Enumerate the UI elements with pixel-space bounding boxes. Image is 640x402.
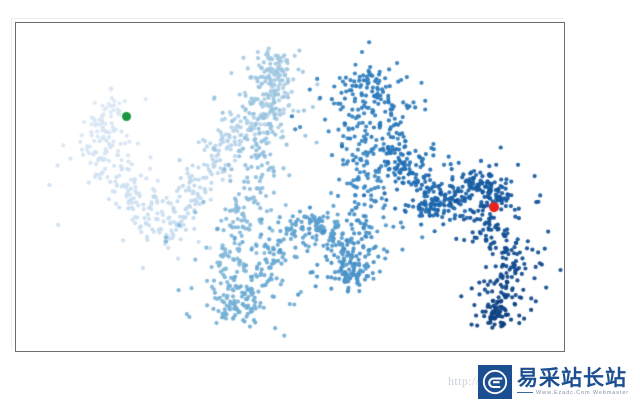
watermark-badge: 易采站长站 Www.Ezadc.Com Webmaster (478, 364, 629, 400)
brand-text-block: 易采站长站 Www.Ezadc.Com Webmaster (517, 364, 629, 400)
brand-title: 易采站长站 (517, 367, 629, 389)
brand-subtitle: Www.Ezadc.Com Webmaster (517, 389, 629, 397)
scatter-plot-canvas (0, 0, 640, 402)
brand-subtitle-text: Www.Ezadc.Com Webmaster (536, 390, 629, 396)
brand-logo-icon (478, 365, 512, 399)
brand-rule (517, 392, 533, 393)
scatter-plot-figure: http://bl 易采站长站 Www.Ezadc.Com Webmaster (0, 0, 640, 402)
watermark: http://bl 易采站长站 Www.Ezadc.Com Webmaster (448, 362, 640, 402)
